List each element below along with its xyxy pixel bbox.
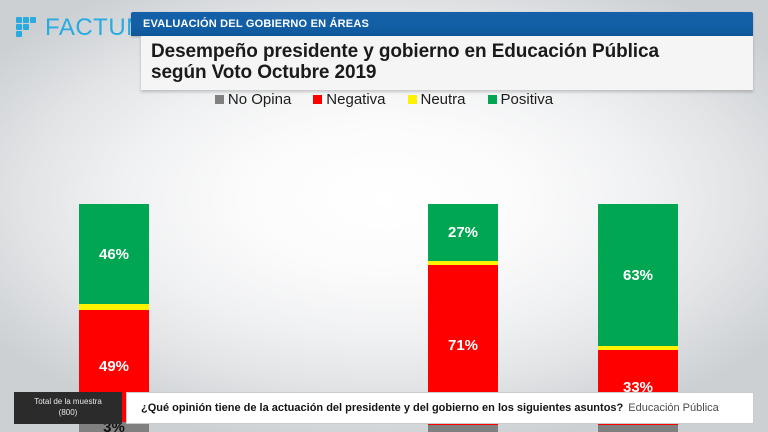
segment-frente-amplio-positiva[interactable]: 27% xyxy=(428,204,498,261)
segment-total-positiva[interactable]: 46% xyxy=(79,204,149,304)
question-text: ¿Qué opinión tiene de la actuación del p… xyxy=(141,402,623,414)
chart-plot-area: 3% 49% 2% 46% Total 2% 7 xyxy=(0,0,768,432)
segment-partidos-coalicion-positiva[interactable]: 63% xyxy=(598,204,678,346)
sample-size-label: Total de la muestra xyxy=(34,397,102,408)
segment-frente-amplio-no-opina[interactable]: 2% xyxy=(428,425,498,432)
slide-root: FACTUM EVALUACIÓN DEL GOBIERNO EN ÁREAS … xyxy=(0,0,768,432)
segment-value-total-positiva: 46% xyxy=(99,247,129,262)
sample-size-box: Total de la muestra (800) xyxy=(14,392,122,424)
bar-group-partidos-coalicion: 2% 33% 1% 63% Partidos Coalición xyxy=(598,90,678,432)
question-box: ¿Qué opinión tiene de la actuación del p… xyxy=(126,392,754,424)
segment-partidos-coalicion-no-opina[interactable]: 2% xyxy=(598,425,678,432)
segment-value-frente-amplio-negativa: 71% xyxy=(448,338,478,353)
bar-group-total: 3% 49% 2% 46% Total xyxy=(79,90,149,432)
segment-value-total-negativa: 49% xyxy=(99,359,129,374)
segment-total-neutra[interactable]: 2% xyxy=(79,304,149,310)
bar-group-frente-amplio: 2% 71% 1% 27% Frente Amplio xyxy=(428,90,498,432)
segment-value-frente-amplio-positiva: 27% xyxy=(448,225,478,240)
segment-frente-amplio-neutra[interactable]: 1% xyxy=(428,261,498,265)
segment-value-partidos-coalicion-positiva: 63% xyxy=(623,268,653,283)
question-subject: Educación Pública xyxy=(628,402,719,414)
segment-partidos-coalicion-neutra[interactable]: 1% xyxy=(598,346,678,350)
sample-size-value: (800) xyxy=(59,408,78,419)
